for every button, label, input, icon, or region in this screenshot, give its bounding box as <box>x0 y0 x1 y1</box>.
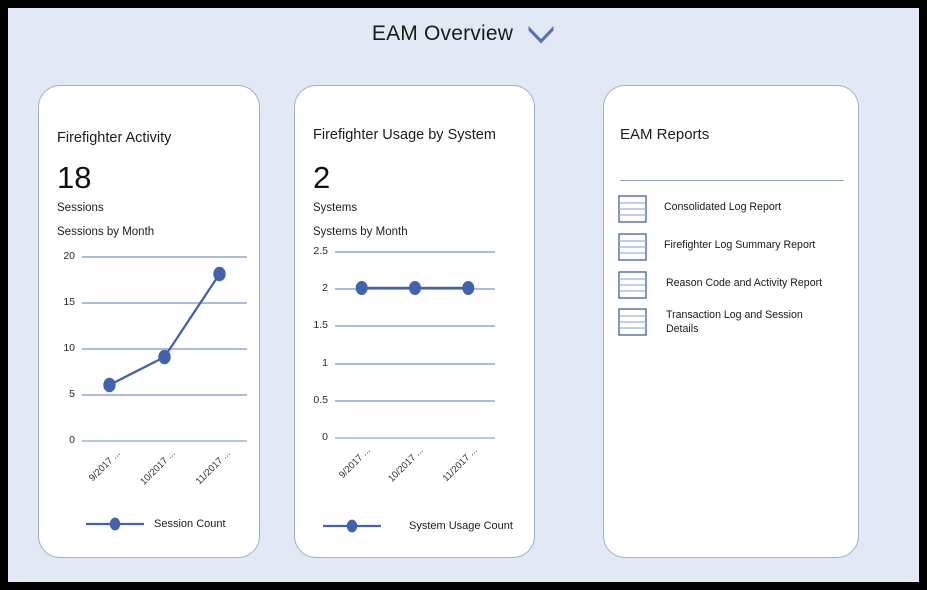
report-item-reason-code-and-activity-report[interactable]: Reason Code and Activity Report <box>618 270 822 305</box>
report-label: Transaction Log and Session Details <box>666 308 803 337</box>
chart-systems-by-month[interactable]: 2.5 2 1.5 1 0.5 0 9/2017 ... 10/2017 ...… <box>295 86 536 386</box>
chart-sessions-by-month[interactable]: 20 15 10 5 0 9/2017 ... 10/2017 ... 11/2… <box>39 86 261 386</box>
report-item-consolidated-log-report[interactable]: Consolidated Log Report <box>618 194 781 229</box>
legend-label-system-usage-count: System Usage Count <box>409 520 513 532</box>
legend-marker-icon <box>84 516 146 532</box>
reports-divider <box>620 180 844 181</box>
chevron-down-icon[interactable] <box>527 24 555 44</box>
legend-label-session-count: Session Count <box>154 518 226 530</box>
report-label: Consolidated Log Report <box>664 200 781 214</box>
card-title-eam-reports: EAM Reports <box>620 126 709 143</box>
legend-system-usage-count[interactable]: System Usage Count <box>321 518 513 534</box>
series-system-usage-count <box>295 86 536 486</box>
report-document-icon <box>618 307 648 342</box>
report-label: Reason Code and Activity Report <box>666 276 822 290</box>
card-firefighter-activity: Firefighter Activity 18 Sessions Session… <box>38 85 260 558</box>
report-document-icon <box>618 232 648 267</box>
report-document-icon <box>618 194 648 229</box>
legend-marker-icon <box>321 518 383 534</box>
dashboard-frame: EAM Overview Firefighter Activity 18 Ses… <box>8 8 919 582</box>
legend-session-count[interactable]: Session Count <box>84 516 226 532</box>
report-item-transaction-log-and-session-details[interactable]: Transaction Log and Session Details <box>618 307 803 342</box>
page-title: EAM Overview <box>372 22 513 46</box>
series-session-count <box>39 86 261 486</box>
report-label: Firefighter Log Summary Report <box>664 238 815 252</box>
card-firefighter-usage-by-system: Firefighter Usage by System 2 Systems Sy… <box>294 85 535 558</box>
report-item-firefighter-log-summary-report[interactable]: Firefighter Log Summary Report <box>618 232 815 267</box>
card-eam-reports: EAM Reports Consolidated Log Report <box>603 85 859 558</box>
report-document-icon <box>618 270 648 305</box>
dashboard-header: EAM Overview <box>8 22 919 62</box>
